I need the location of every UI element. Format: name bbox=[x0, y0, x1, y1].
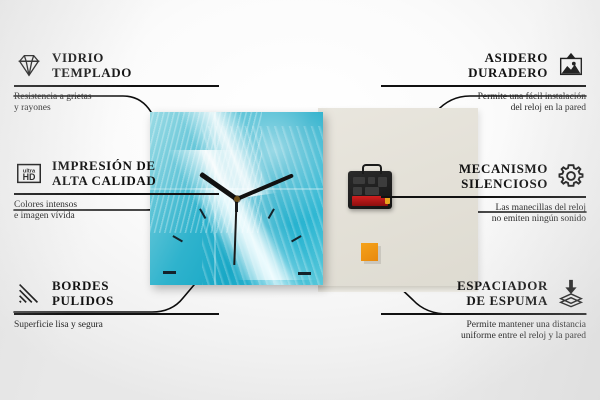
feature-bordes-pulidos: BORDES PULIDOS Superficie lisa y segura bbox=[14, 278, 219, 331]
feature-title-line2: DURADERO bbox=[468, 65, 548, 80]
ultra-hd-icon: ultra HD bbox=[14, 158, 44, 188]
clock-minute-hand bbox=[236, 173, 294, 201]
feature-title-line1: ESPACIADOR bbox=[457, 278, 548, 293]
polished-edge-icon bbox=[14, 278, 44, 308]
picture-hanger-icon bbox=[556, 50, 586, 80]
feature-desc-line1: Superficie lisa y segura bbox=[14, 320, 219, 332]
feature-title-line1: VIDRIO bbox=[52, 50, 132, 65]
feature-vidrio-templado: VIDRIO TEMPLADO Resistencia a grietas y … bbox=[14, 50, 219, 115]
feature-title-line2: ALTA CALIDAD bbox=[52, 173, 156, 188]
feature-asidero-duradero: ASIDERO DURADERO Permite una fácil insta… bbox=[381, 50, 586, 115]
feature-desc-line2: uniforme entre el reloj y la pared bbox=[381, 331, 586, 343]
feature-impresion-alta-calidad: ultra HD IMPRESIÓN DE ALTA CALIDAD Color… bbox=[14, 158, 219, 223]
foam-spacer-piece bbox=[361, 243, 378, 261]
feature-desc-line1: Permite mantener una distancia bbox=[381, 320, 586, 332]
feature-desc-line2: del reloj en la pared bbox=[381, 103, 586, 115]
feature-espaciador-espuma: ESPACIADOR DE ESPUMA Permite mantener un… bbox=[381, 278, 586, 343]
feature-title-line2: DE ESPUMA bbox=[457, 293, 548, 308]
feature-rule bbox=[381, 196, 586, 198]
feature-title-line2: SILENCIOSO bbox=[459, 176, 548, 191]
feature-desc-line2: y rayones bbox=[14, 103, 219, 115]
feature-title-line2: TEMPLADO bbox=[52, 65, 132, 80]
feature-rule bbox=[381, 85, 586, 87]
feature-rule bbox=[14, 313, 219, 315]
svg-text:HD: HD bbox=[23, 172, 36, 182]
feature-title-line1: BORDES bbox=[52, 278, 114, 293]
feature-title-line1: MECANISMO bbox=[459, 161, 548, 176]
feature-title-line1: IMPRESIÓN DE bbox=[52, 158, 156, 173]
feature-desc-line1: Colores intensos bbox=[14, 200, 219, 212]
feature-desc-line2: no emiten ningún sonido bbox=[381, 214, 586, 226]
diamond-icon bbox=[14, 50, 44, 80]
feature-desc-line2: e imagen vívida bbox=[14, 211, 219, 223]
foam-spacer-icon bbox=[556, 278, 586, 308]
feature-rule bbox=[14, 85, 219, 87]
feature-rule bbox=[14, 193, 219, 195]
gear-icon bbox=[556, 161, 586, 191]
feature-rule bbox=[381, 313, 586, 315]
feature-desc-line1: Permite una fácil instalación bbox=[381, 92, 586, 104]
infographic-stage: VIDRIO TEMPLADO Resistencia a grietas y … bbox=[0, 0, 600, 400]
feature-mecanismo-silencioso: MECANISMO SILENCIOSO Las manecillas del … bbox=[381, 161, 586, 226]
feature-title-line2: PULIDOS bbox=[52, 293, 114, 308]
feature-title-line1: ASIDERO bbox=[468, 50, 548, 65]
feature-desc-line1: Las manecillas del reloj bbox=[381, 203, 586, 215]
feature-desc-line1: Resistencia a grietas bbox=[14, 92, 219, 104]
clock-center-cap bbox=[234, 196, 240, 202]
